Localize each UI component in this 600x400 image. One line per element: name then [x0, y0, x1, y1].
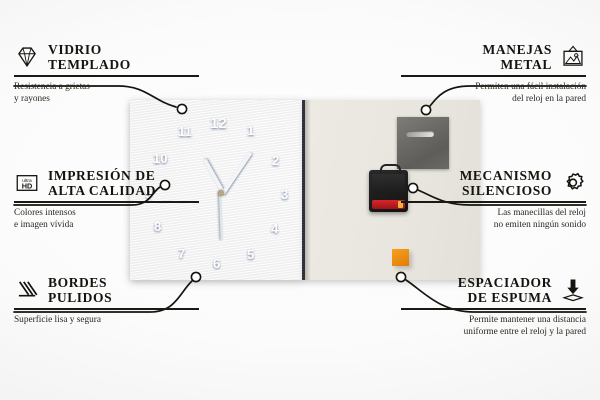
- clock-numeral-1: 1: [247, 124, 254, 137]
- feature-title-line2: SILENCIOSO: [462, 183, 552, 198]
- feature-desc-line2: e imagen vívida: [14, 220, 73, 230]
- feature-rule: [14, 75, 199, 77]
- clock-numeral-10: 10: [153, 152, 167, 165]
- feature-title-line1: MANEJAS: [483, 42, 552, 57]
- clock-numeral-3: 3: [281, 188, 288, 201]
- feature-vidrio-templado[interactable]: VIDRIOTEMPLADO Resistencia a grietasy ra…: [14, 42, 199, 105]
- feature-rule: [14, 308, 199, 310]
- feature-title-line2: PULIDOS: [48, 290, 112, 305]
- feature-espaciador-espuma[interactable]: ESPACIADORDE ESPUMA Permite mantener una…: [401, 275, 586, 338]
- feature-title-line1: VIDRIO: [48, 42, 102, 57]
- feature-title-line1: IMPRESIÓN DE: [48, 168, 155, 183]
- feature-desc-line2: no emiten ningún sonido: [494, 220, 586, 230]
- infographic-stage: 12 1 2 3 4 5 6 7 8 9 10 11: [0, 0, 600, 400]
- gear-icon: [560, 170, 586, 196]
- feature-title-line1: ESPACIADOR: [458, 275, 552, 290]
- clock-numeral-5: 5: [247, 248, 254, 261]
- hanger-keyhole-slot: [406, 131, 434, 137]
- ultra-hd-icon-bottom: HD: [22, 182, 33, 191]
- feature-bordes-pulidos[interactable]: BORDESPULIDOS Superficie lisa y segura: [14, 275, 199, 326]
- clock-numeral-7: 7: [178, 247, 185, 260]
- framed-picture-icon: [560, 44, 586, 70]
- feature-mecanismo-silencioso[interactable]: MECANISMOSILENCIOSO Las manecillas del r…: [401, 168, 586, 231]
- feature-title-line1: MECANISMO: [460, 168, 552, 183]
- clock-numeral-11: 11: [178, 125, 192, 138]
- feature-title-line2: ALTA CALIDAD: [48, 183, 156, 198]
- clock-center-cap: [218, 190, 224, 196]
- ultra-hd-icon: ultra HD: [14, 170, 40, 196]
- feature-desc-line1: Las manecillas del reloj: [497, 208, 586, 218]
- feature-impresion-alta-calidad[interactable]: ultra HD IMPRESIÓN DEALTA CALIDAD Colore…: [14, 168, 199, 231]
- feature-desc-line2: y rayones: [14, 94, 50, 104]
- metal-hanger-plate: [397, 117, 449, 169]
- feature-desc-line1: Permiten una fácil instalación: [475, 82, 586, 92]
- feature-desc-line1: Resistencia a grietas: [14, 82, 90, 92]
- diagonal-lines-icon: [14, 277, 40, 303]
- down-arrow-pad-icon: [560, 277, 586, 303]
- diamond-icon: [14, 44, 40, 70]
- clock-numeral-4: 4: [271, 222, 278, 235]
- feature-desc-line2: del reloj en la pared: [512, 94, 586, 104]
- feature-desc-line2: uniforme entre el reloj y la pared: [464, 327, 586, 337]
- feature-rule: [401, 75, 586, 77]
- feature-rule: [401, 308, 586, 310]
- feature-desc-line1: Permite mantener una distancia: [469, 315, 586, 325]
- feature-manejas-metal[interactable]: MANEJASMETAL Permiten una fácil instalac…: [401, 42, 586, 105]
- clock-numeral-6: 6: [213, 257, 220, 270]
- feature-title-line2: METAL: [500, 57, 552, 72]
- feature-rule: [14, 201, 199, 203]
- feature-title-line2: DE ESPUMA: [467, 290, 552, 305]
- feature-title-line2: TEMPLADO: [48, 57, 131, 72]
- feature-rule: [401, 201, 586, 203]
- foam-spacer: [392, 249, 409, 266]
- feature-title-line1: BORDES: [48, 275, 107, 290]
- clock-numeral-12: 12: [210, 116, 227, 131]
- clock-numeral-2: 2: [272, 154, 279, 167]
- feature-desc-line1: Superficie lisa y segura: [14, 315, 101, 325]
- feature-desc-line1: Colores intensos: [14, 208, 76, 218]
